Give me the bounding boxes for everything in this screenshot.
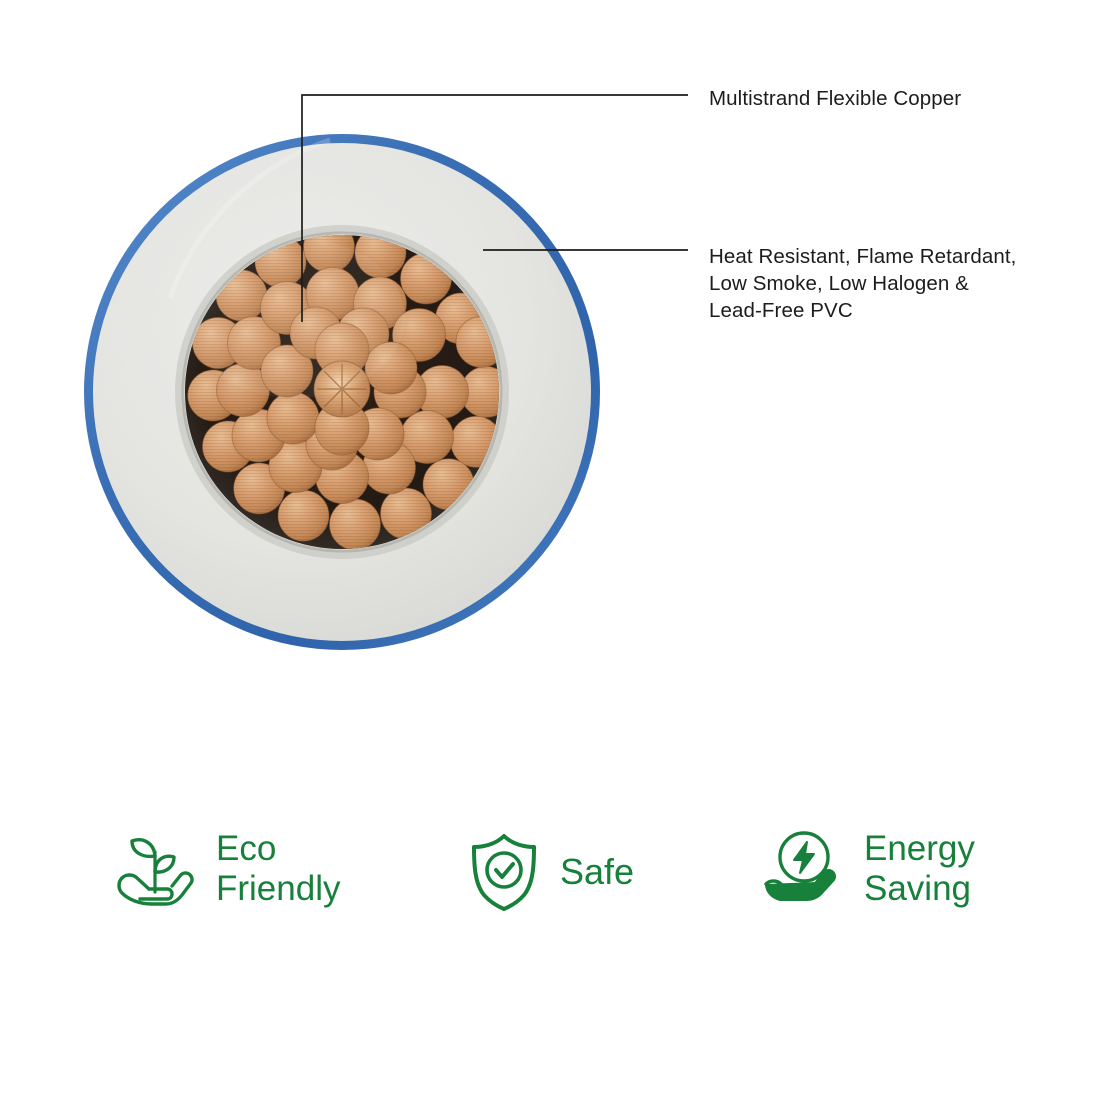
shield-check-icon (466, 832, 542, 912)
feature-energy-saving[interactable]: Energy Saving (760, 826, 975, 912)
infographic-canvas: Multistrand Flexible Copper Heat Resista… (0, 0, 1100, 1100)
cable-cross-section-svg (80, 128, 608, 658)
feature-safe[interactable]: Safe (466, 832, 634, 912)
feature-eco-friendly[interactable]: Eco Friendly (112, 826, 340, 912)
callout-label-copper: Multistrand Flexible Copper (709, 85, 961, 112)
feature-badges-row: Eco Friendly Safe (0, 820, 1100, 940)
feature-label-energy-saving: Energy Saving (864, 829, 975, 909)
cable-cross-section-figure (80, 128, 608, 658)
feature-label-eco-friendly: Eco Friendly (216, 829, 340, 909)
callout-label-pvc: Heat Resistant, Flame Retardant, Low Smo… (709, 243, 1016, 324)
hand-holding-lightning-icon (760, 826, 846, 912)
hand-holding-plant-icon (112, 826, 198, 912)
feature-label-safe: Safe (560, 852, 634, 892)
